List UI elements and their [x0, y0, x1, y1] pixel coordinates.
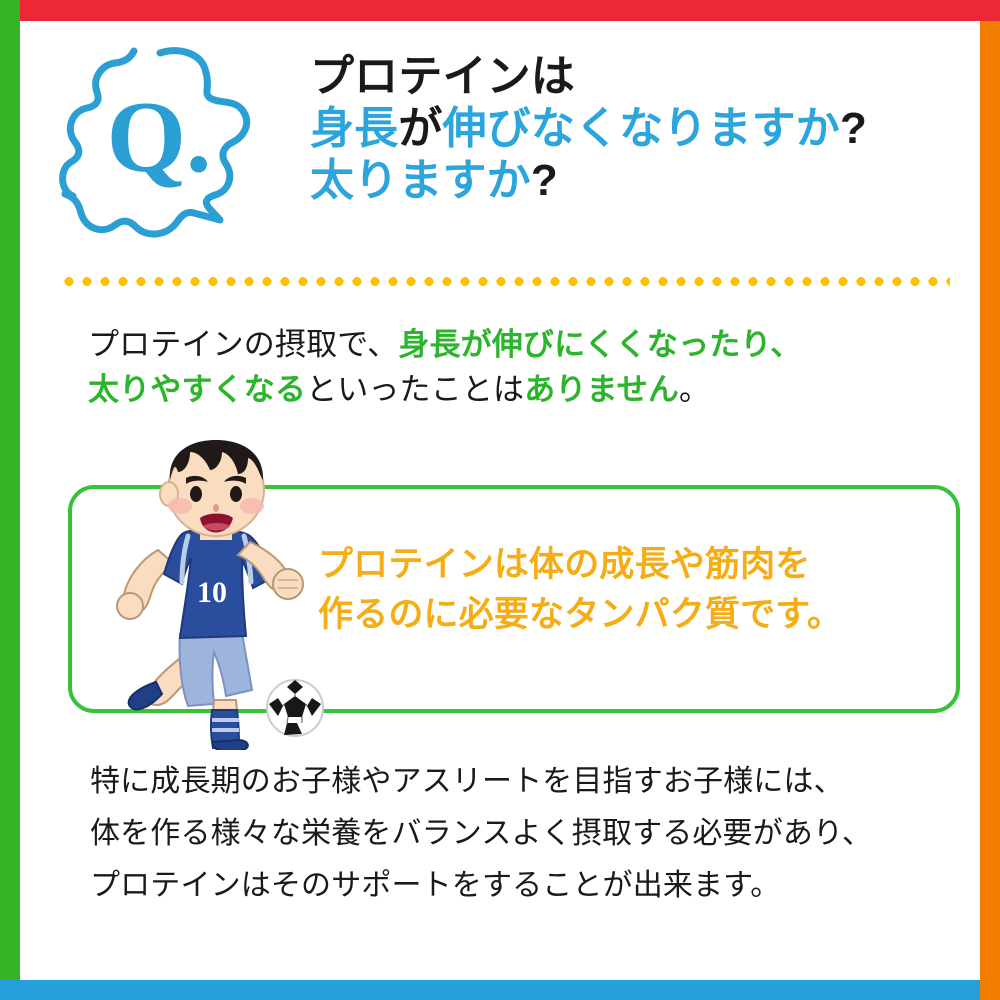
highlight-box-text: プロテインは体の成長や筋肉を 作るのに必要なタンパク質です。	[318, 540, 938, 639]
lead-seg: といったことは	[306, 372, 524, 407]
soccer-ball-icon	[265, 678, 325, 738]
question-header: Q. プロテインは 身長が伸びなくなりますか? 太りますか?	[20, 21, 980, 271]
frame-bar-top	[20, 0, 1000, 21]
lead-seg-emphasis: ありません	[524, 372, 679, 407]
closing-paragraph: 特に成長期のお子様やアスリートを目指すお子様には、 体を作る様々な栄養をバランス…	[90, 756, 970, 912]
lead-seg: 。	[679, 372, 710, 407]
jersey-number: 10	[197, 576, 227, 609]
frame-bar-right	[980, 21, 1000, 1000]
closing-line-3: プロテインはそのサポートをすることが出来ます。	[90, 860, 970, 912]
question-seg: プロテインは	[310, 52, 575, 101]
closing-line-1: 特に成長期のお子様やアスリートを目指すお子様には、	[90, 756, 970, 808]
question-seg: 身長	[310, 104, 398, 153]
question-seg: が	[398, 104, 442, 153]
highlight-line-1: プロテインは体の成長や筋肉を	[318, 540, 938, 590]
lead-seg-emphasis: 太りやすくなる	[88, 372, 306, 407]
question-text: プロテインは 身長が伸びなくなりますか? 太りますか?	[310, 51, 970, 207]
lead-paragraph: プロテインの摂取で、身長が伸びにくくなったり、太りやすくなるといったことはありま…	[88, 322, 968, 413]
dotted-divider	[60, 277, 950, 286]
highlight-line-2: 作るのに必要なタンパク質です。	[318, 590, 938, 640]
frame-bar-bottom	[0, 980, 980, 1000]
question-seg: ?	[840, 104, 867, 153]
question-seg: 太りますか	[310, 156, 531, 205]
question-seg: ?	[531, 156, 558, 205]
speech-bubble-cloud-icon: Q.	[55, 43, 270, 243]
question-seg: 伸びなくなりますか	[443, 104, 840, 153]
question-line-3: 太りますか?	[310, 155, 970, 207]
badge-label: Q.	[107, 81, 212, 194]
promo-card: Q. プロテインは 身長が伸びなくなりますか? 太りますか? プロテインの摂取で…	[0, 0, 1000, 1000]
question-line-2: 身長が伸びなくなりますか?	[310, 103, 970, 155]
lead-seg-emphasis: 身長が伸びにくくなったり、	[398, 327, 801, 362]
question-line-1: プロテインは	[310, 51, 970, 103]
frame-bar-left	[0, 0, 20, 980]
lead-seg: プロテインの摂取で、	[88, 327, 398, 362]
closing-line-2: 体を作る様々な栄養をバランスよく摂取する必要があり、	[90, 808, 970, 860]
